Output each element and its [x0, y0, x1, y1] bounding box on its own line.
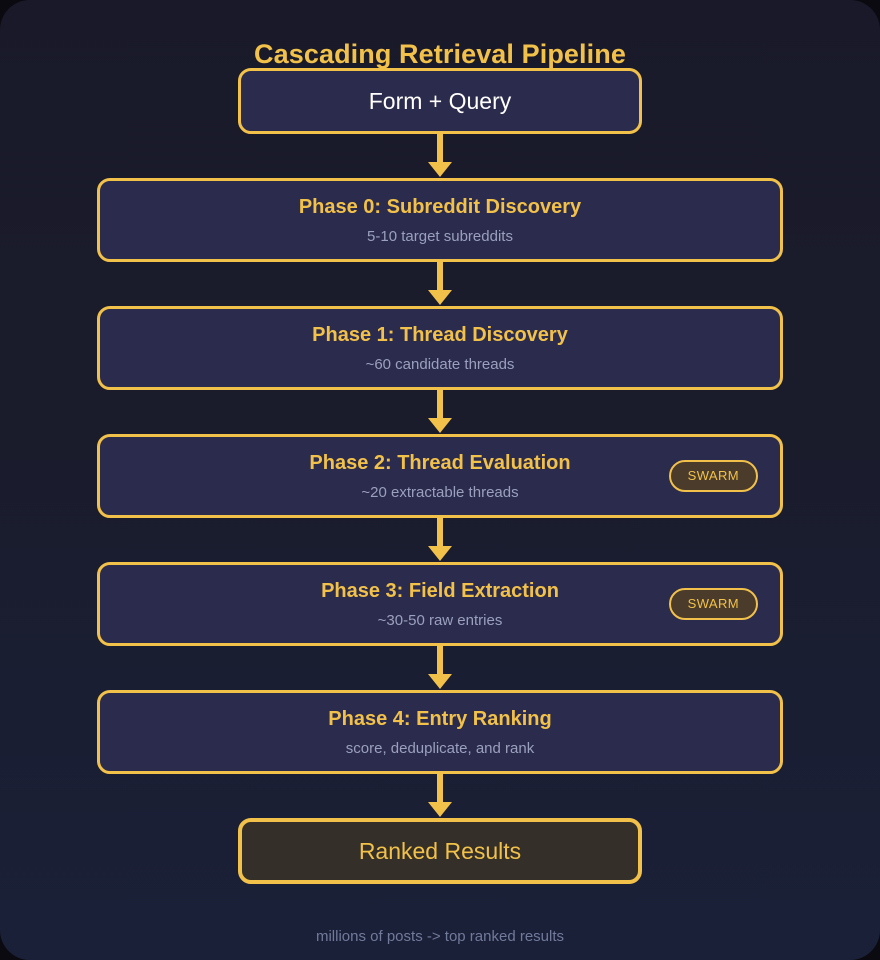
node-phase-4[interactable]: Phase 4: Entry Ranking score, deduplicat… — [97, 690, 783, 774]
arrow-down-icon — [425, 518, 455, 562]
arrow-down-icon — [425, 646, 455, 690]
node-phase-2-title: Phase 2: Thread Evaluation — [309, 453, 570, 473]
arrow-down-icon — [425, 774, 455, 818]
page-title: Cascading Retrieval Pipeline — [254, 41, 626, 68]
arrow-down-icon — [425, 134, 455, 178]
diagram-stack: Cascading Retrieval Pipeline Form + Quer… — [0, 0, 880, 944]
node-phase-3-title: Phase 3: Field Extraction — [321, 581, 559, 601]
node-phase-1[interactable]: Phase 1: Thread Discovery ~60 candidate … — [97, 306, 783, 390]
node-phase-0[interactable]: Phase 0: Subreddit Discovery 5-10 target… — [97, 178, 783, 262]
node-phase-2[interactable]: Phase 2: Thread Evaluation ~20 extractab… — [97, 434, 783, 518]
node-phase-0-title: Phase 0: Subreddit Discovery — [299, 197, 581, 217]
node-end-label: Ranked Results — [359, 840, 521, 863]
node-phase-4-title: Phase 4: Entry Ranking — [328, 709, 551, 729]
node-phase-4-subtitle: score, deduplicate, and rank — [346, 741, 534, 756]
node-phase-3[interactable]: Phase 3: Field Extraction ~30-50 raw ent… — [97, 562, 783, 646]
node-phase-3-subtitle: ~30-50 raw entries — [378, 613, 503, 628]
arrow-down-icon — [425, 390, 455, 434]
node-phase-1-subtitle: ~60 candidate threads — [366, 357, 515, 372]
diagram-panel: Cascading Retrieval Pipeline Form + Quer… — [0, 0, 880, 960]
node-end[interactable]: Ranked Results — [238, 818, 642, 884]
node-phase-0-subtitle: 5-10 target subreddits — [367, 229, 513, 244]
swarm-badge: SWARM — [669, 460, 758, 492]
node-phase-2-subtitle: ~20 extractable threads — [361, 485, 518, 500]
arrow-down-icon — [425, 262, 455, 306]
footer-note: millions of posts -> top ranked results — [316, 929, 564, 944]
swarm-badge: SWARM — [669, 588, 758, 620]
node-start-label: Form + Query — [369, 90, 512, 113]
node-start[interactable]: Form + Query — [238, 68, 642, 134]
node-phase-1-title: Phase 1: Thread Discovery — [312, 325, 568, 345]
